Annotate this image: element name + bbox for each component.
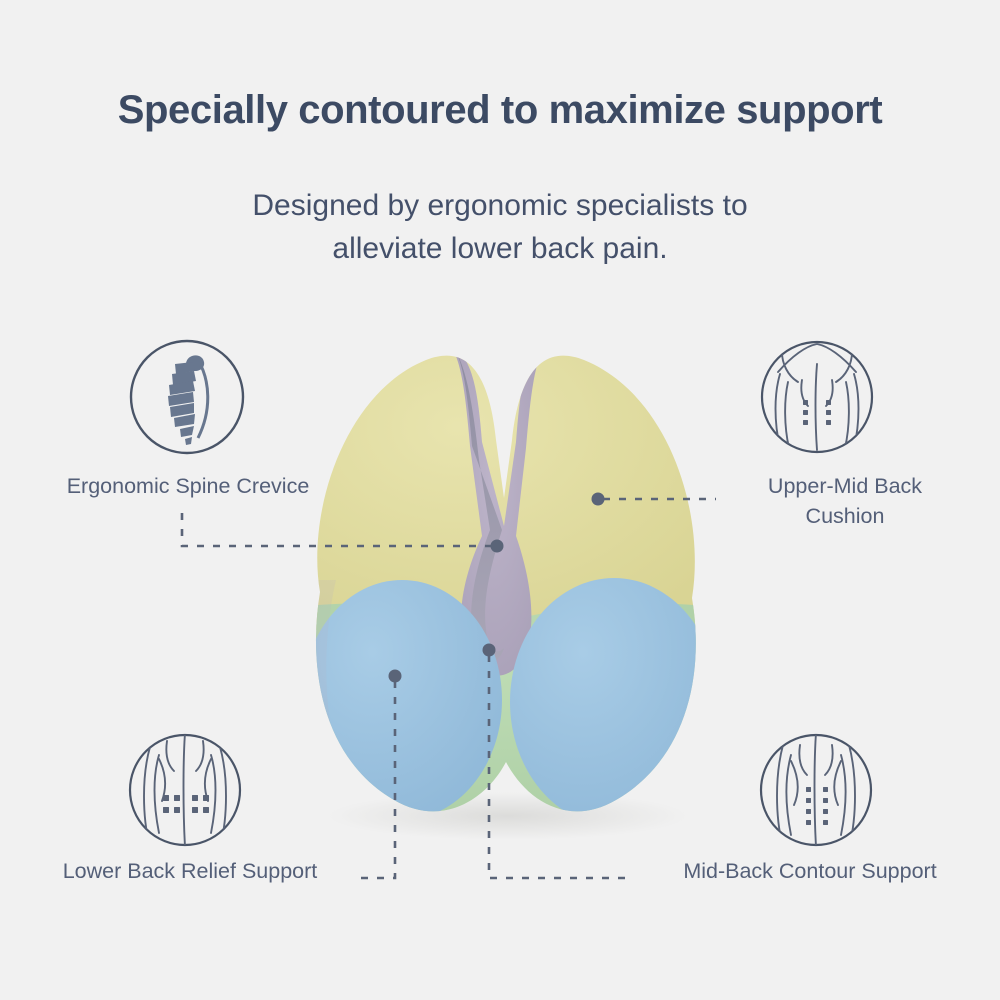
spine-vertebrae-icon [128,338,246,456]
lower-back-torso-icon [126,731,244,849]
feature-label-mid-back: Mid-Back Contour Support [620,857,1000,887]
mid-back-torso-icon [757,731,875,849]
zone-lower-back-left [302,580,502,820]
zone-lower-back-right [510,578,718,826]
cushion-drop-shadow [328,792,688,840]
product-cushion-illustration [276,330,732,850]
page-subtitle: Designed by ergonomic specialists to all… [0,185,1000,270]
page-title: Specially contoured to maximize support [0,88,1000,133]
subtitle-line-2: alleviate lower back pain. [0,228,1000,271]
infographic-canvas: Specially contoured to maximize support … [0,0,1000,1000]
feature-label-spine-crevice: Ergonomic Spine Crevice [0,472,376,502]
upper-back-torso-icon [758,338,876,456]
subtitle-line-1: Designed by ergonomic specialists to [0,185,1000,228]
feature-label-lower-back: Lower Back Relief Support [0,857,380,887]
feature-label-upper-mid-back: Upper-Mid Back Cushion [690,472,1000,531]
